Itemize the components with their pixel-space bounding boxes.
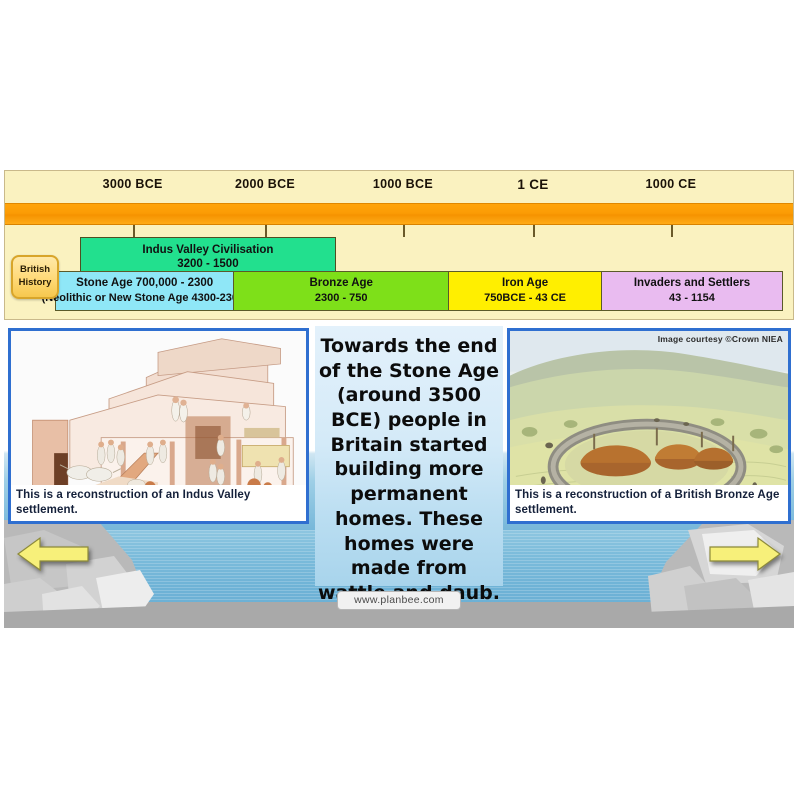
image-credit: Image courtesy ©Crown NIEA xyxy=(658,334,783,344)
slide-stage: 3000 BCE2000 BCE1000 BCE1 CE1000 CE Indu… xyxy=(0,0,798,798)
bronze-age-caption: This is a reconstruction of a British Br… xyxy=(510,485,788,521)
era-detail: 750BCE - 43 CE xyxy=(484,291,566,305)
event-dates: 3200 - 1500 xyxy=(177,257,238,271)
era-name: Iron Age xyxy=(502,276,548,291)
timeline-tick xyxy=(403,225,405,237)
era-detail: 43 - 1154 xyxy=(669,291,715,305)
previous-arrow[interactable] xyxy=(16,534,90,574)
slide-text-block: Towards the end of the Stone Age (around… xyxy=(315,326,503,586)
timeline-scale-label: 1 CE xyxy=(517,177,548,192)
era-name: Stone Age 700,000 - 2300 xyxy=(76,276,213,291)
timeline-tick xyxy=(533,225,535,237)
timeline-tick xyxy=(671,225,673,237)
era-row: Stone Age 700,000 - 2300(Neolithic or Ne… xyxy=(55,271,783,311)
slide-body: Towards the end of the Stone Age (around… xyxy=(4,322,794,628)
era-bar-bronze-age[interactable]: Bronze Age2300 - 750 xyxy=(233,271,448,311)
timeline-tick xyxy=(265,225,267,237)
timeline-scale-label: 3000 BCE xyxy=(103,177,163,191)
era-detail: (Neolithic or New Stone Age 4300-2300) xyxy=(42,291,248,305)
timeline-panel: 3000 BCE2000 BCE1000 BCE1 CE1000 CE Indu… xyxy=(4,170,794,320)
slide-body-text: Towards the end of the Stone Age (around… xyxy=(317,334,501,606)
timeline-scale-label: 1000 CE xyxy=(645,177,696,191)
era-bar-iron-age[interactable]: Iron Age750BCE - 43 CE xyxy=(448,271,601,311)
timeline-tick xyxy=(133,225,135,237)
british-history-tab-line1: British xyxy=(20,264,50,277)
timeline-scale-label: 1000 BCE xyxy=(373,177,433,191)
era-bar-invaders-and-settlers[interactable]: Invaders and Settlers43 - 1154 xyxy=(601,271,783,311)
era-name: Bronze Age xyxy=(309,276,372,291)
era-detail: 2300 - 750 xyxy=(315,291,368,305)
event-name: Indus Valley Civilisation xyxy=(142,243,273,257)
timeline-scale-row: 3000 BCE2000 BCE1000 BCE1 CE1000 CE xyxy=(5,171,793,203)
timeline-scale-label: 2000 BCE xyxy=(235,177,295,191)
era-name: Invaders and Settlers xyxy=(634,276,750,291)
timeline-orange-bar xyxy=(5,203,793,225)
planbee-watermark: www.planbee.com xyxy=(337,591,461,610)
british-history-tab-line2: History xyxy=(19,277,52,290)
indus-valley-caption: This is a reconstruction of an Indus Val… xyxy=(11,485,306,521)
next-arrow[interactable] xyxy=(708,534,782,574)
british-history-tab[interactable]: British History xyxy=(11,255,59,299)
indus-valley-picture-frame[interactable]: This is a reconstruction of an Indus Val… xyxy=(8,328,309,524)
era-bar-stone-age-700-000-2300[interactable]: Stone Age 700,000 - 2300(Neolithic or Ne… xyxy=(55,271,233,311)
bronze-age-picture-frame[interactable]: Image courtesy ©Crown NIEA This is a rec… xyxy=(507,328,791,524)
